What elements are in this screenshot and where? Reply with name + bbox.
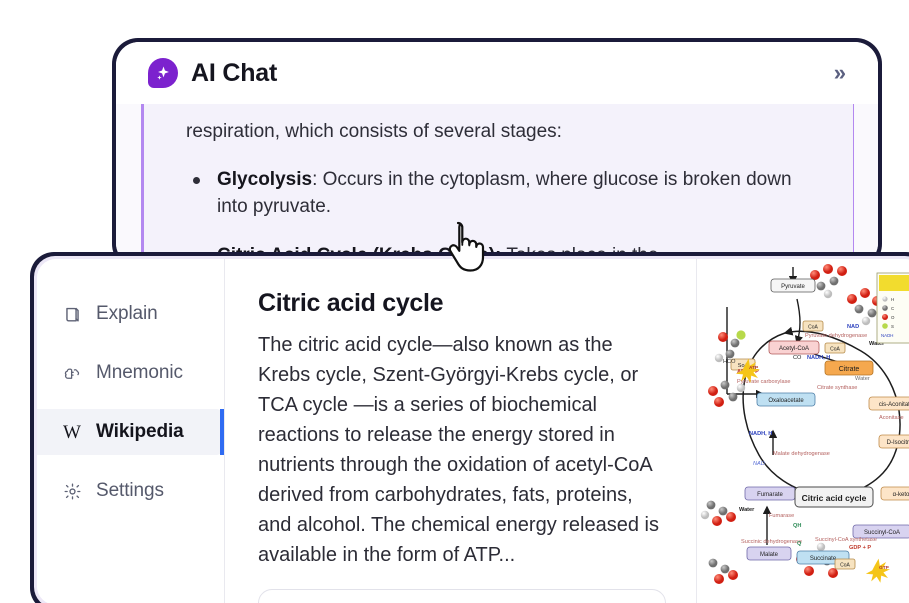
svg-text:Succinyl-CoA synthetase: Succinyl-CoA synthetase xyxy=(815,537,877,543)
svg-text:α-ketoglu: α-ketoglu xyxy=(893,492,909,498)
brain-icon xyxy=(61,362,83,384)
message-paragraph: respiration, which consists of several s… xyxy=(186,117,825,147)
article-body: The citric acid cycle—also known as the … xyxy=(258,330,666,570)
ai-chat-window-frame: AI Chat » respiration, which consists of… xyxy=(112,38,882,270)
sidebar-item-mnemonic[interactable]: Mnemonic xyxy=(37,350,224,396)
svg-text:GDP + P: GDP + P xyxy=(849,545,871,551)
screenshot-stage: AI Chat » respiration, which consists of… xyxy=(0,0,909,603)
svg-text:CoA: CoA xyxy=(830,347,840,353)
study-panel-frame: Explain Mnemonic W xyxy=(30,252,909,603)
svg-text:GTP: GTP xyxy=(879,565,890,571)
svg-text:Succinic dehydrogenase: Succinic dehydrogenase xyxy=(741,539,802,545)
sidebar-item-settings[interactable]: Settings xyxy=(37,468,224,514)
assistant-message: respiration, which consists of several s… xyxy=(141,104,854,266)
svg-text:Fumarate: Fumarate xyxy=(757,492,783,498)
svg-text:H: H xyxy=(891,297,894,302)
ai-chat-window: AI Chat » respiration, which consists of… xyxy=(116,42,878,266)
sidebar-item-label: Explain xyxy=(96,303,158,325)
panel-sidebar: Explain Mnemonic W xyxy=(37,259,225,603)
svg-text:Citrate synthase: Citrate synthase xyxy=(817,385,857,391)
svg-text:Fumarase: Fumarase xyxy=(769,513,794,519)
gear-icon xyxy=(61,480,83,502)
svg-text:Water: Water xyxy=(739,507,755,513)
article-title: Citric acid cycle xyxy=(258,289,666,318)
ai-chat-header: AI Chat » xyxy=(116,42,878,104)
svg-text:Aconitase: Aconitase xyxy=(879,415,904,421)
svg-text:cis-Aconitate: cis-Aconitate xyxy=(879,402,909,408)
svg-text:Malate: Malate xyxy=(760,552,779,558)
article-pane: Citric acid cycle The citric acid cycle—… xyxy=(225,259,697,603)
message-bullet-list: Glycolysis: Occurs in the cytoplasm, whe… xyxy=(186,166,825,266)
list-item: Glycolysis: Occurs in the cytoplasm, whe… xyxy=(186,166,825,220)
wikipedia-icon: W xyxy=(61,421,83,443)
svg-text:CoA: CoA xyxy=(808,325,818,331)
svg-text:ATP: ATP xyxy=(749,365,759,371)
svg-text:O: O xyxy=(891,315,895,320)
svg-text:Succinyl-CoA: Succinyl-CoA xyxy=(864,530,900,536)
svg-text:Succinate: Succinate xyxy=(810,556,837,562)
study-panel-window: Explain Mnemonic W xyxy=(37,259,909,603)
svg-text:Pyruvate: Pyruvate xyxy=(781,284,805,290)
svg-text:Pyruvate carboxylase: Pyruvate carboxylase xyxy=(737,379,790,385)
svg-text:Water: Water xyxy=(855,376,870,382)
svg-text:Acetyl-CoA: Acetyl-CoA xyxy=(779,346,809,352)
chevron-double-right-icon[interactable]: » xyxy=(828,58,852,88)
svg-text:Citrate: Citrate xyxy=(839,366,860,373)
diagram-caption: Citric acid cycle xyxy=(802,493,867,503)
svg-text:NAD: NAD xyxy=(753,461,765,467)
svg-text:NAD: NAD xyxy=(847,324,859,330)
svg-text:S: S xyxy=(891,324,894,329)
study-panel-ring: Explain Mnemonic W xyxy=(34,256,909,603)
svg-text:NADH: NADH xyxy=(881,333,893,338)
diagram-legend: H C O S NADH xyxy=(877,273,909,343)
article-footer-action[interactable] xyxy=(258,589,666,603)
svg-text:CoA: CoA xyxy=(840,563,850,569)
svg-text:QH: QH xyxy=(793,523,801,529)
svg-text:Oxaloacetate: Oxaloacetate xyxy=(768,398,804,404)
svg-text:HCO: HCO xyxy=(723,359,736,365)
svg-text:CO: CO xyxy=(793,355,802,361)
krebs-cycle-diagram[interactable]: Pyruvate Acetyl-CoA Oxaloacetate Citrate… xyxy=(697,259,909,603)
svg-text:NADH, H: NADH, H xyxy=(807,355,830,361)
sidebar-item-explain[interactable]: Explain xyxy=(37,291,224,337)
book-icon xyxy=(61,303,83,325)
page-title: AI Chat xyxy=(191,59,277,88)
list-item-term: Glycolysis xyxy=(217,169,312,190)
sidebar-item-label: Mnemonic xyxy=(96,362,183,384)
sparkle-icon xyxy=(148,58,178,88)
svg-text:Pyruvate dehydrogenase: Pyruvate dehydrogenase xyxy=(805,333,867,339)
svg-text:Q: Q xyxy=(797,541,802,547)
message-scroll-clip xyxy=(186,104,825,115)
svg-text:Malate dehydrogenase: Malate dehydrogenase xyxy=(773,451,830,457)
sidebar-item-label: Wikipedia xyxy=(96,421,184,443)
sidebar-item-wikipedia[interactable]: W Wikipedia xyxy=(37,409,224,455)
svg-text:C: C xyxy=(891,306,894,311)
sidebar-item-label: Settings xyxy=(96,480,164,502)
svg-text:NADH, H: NADH, H xyxy=(749,431,772,437)
svg-text:D-Isocitrate: D-Isocitrate xyxy=(887,440,909,446)
ai-chat-message-area: respiration, which consists of several s… xyxy=(116,104,878,266)
